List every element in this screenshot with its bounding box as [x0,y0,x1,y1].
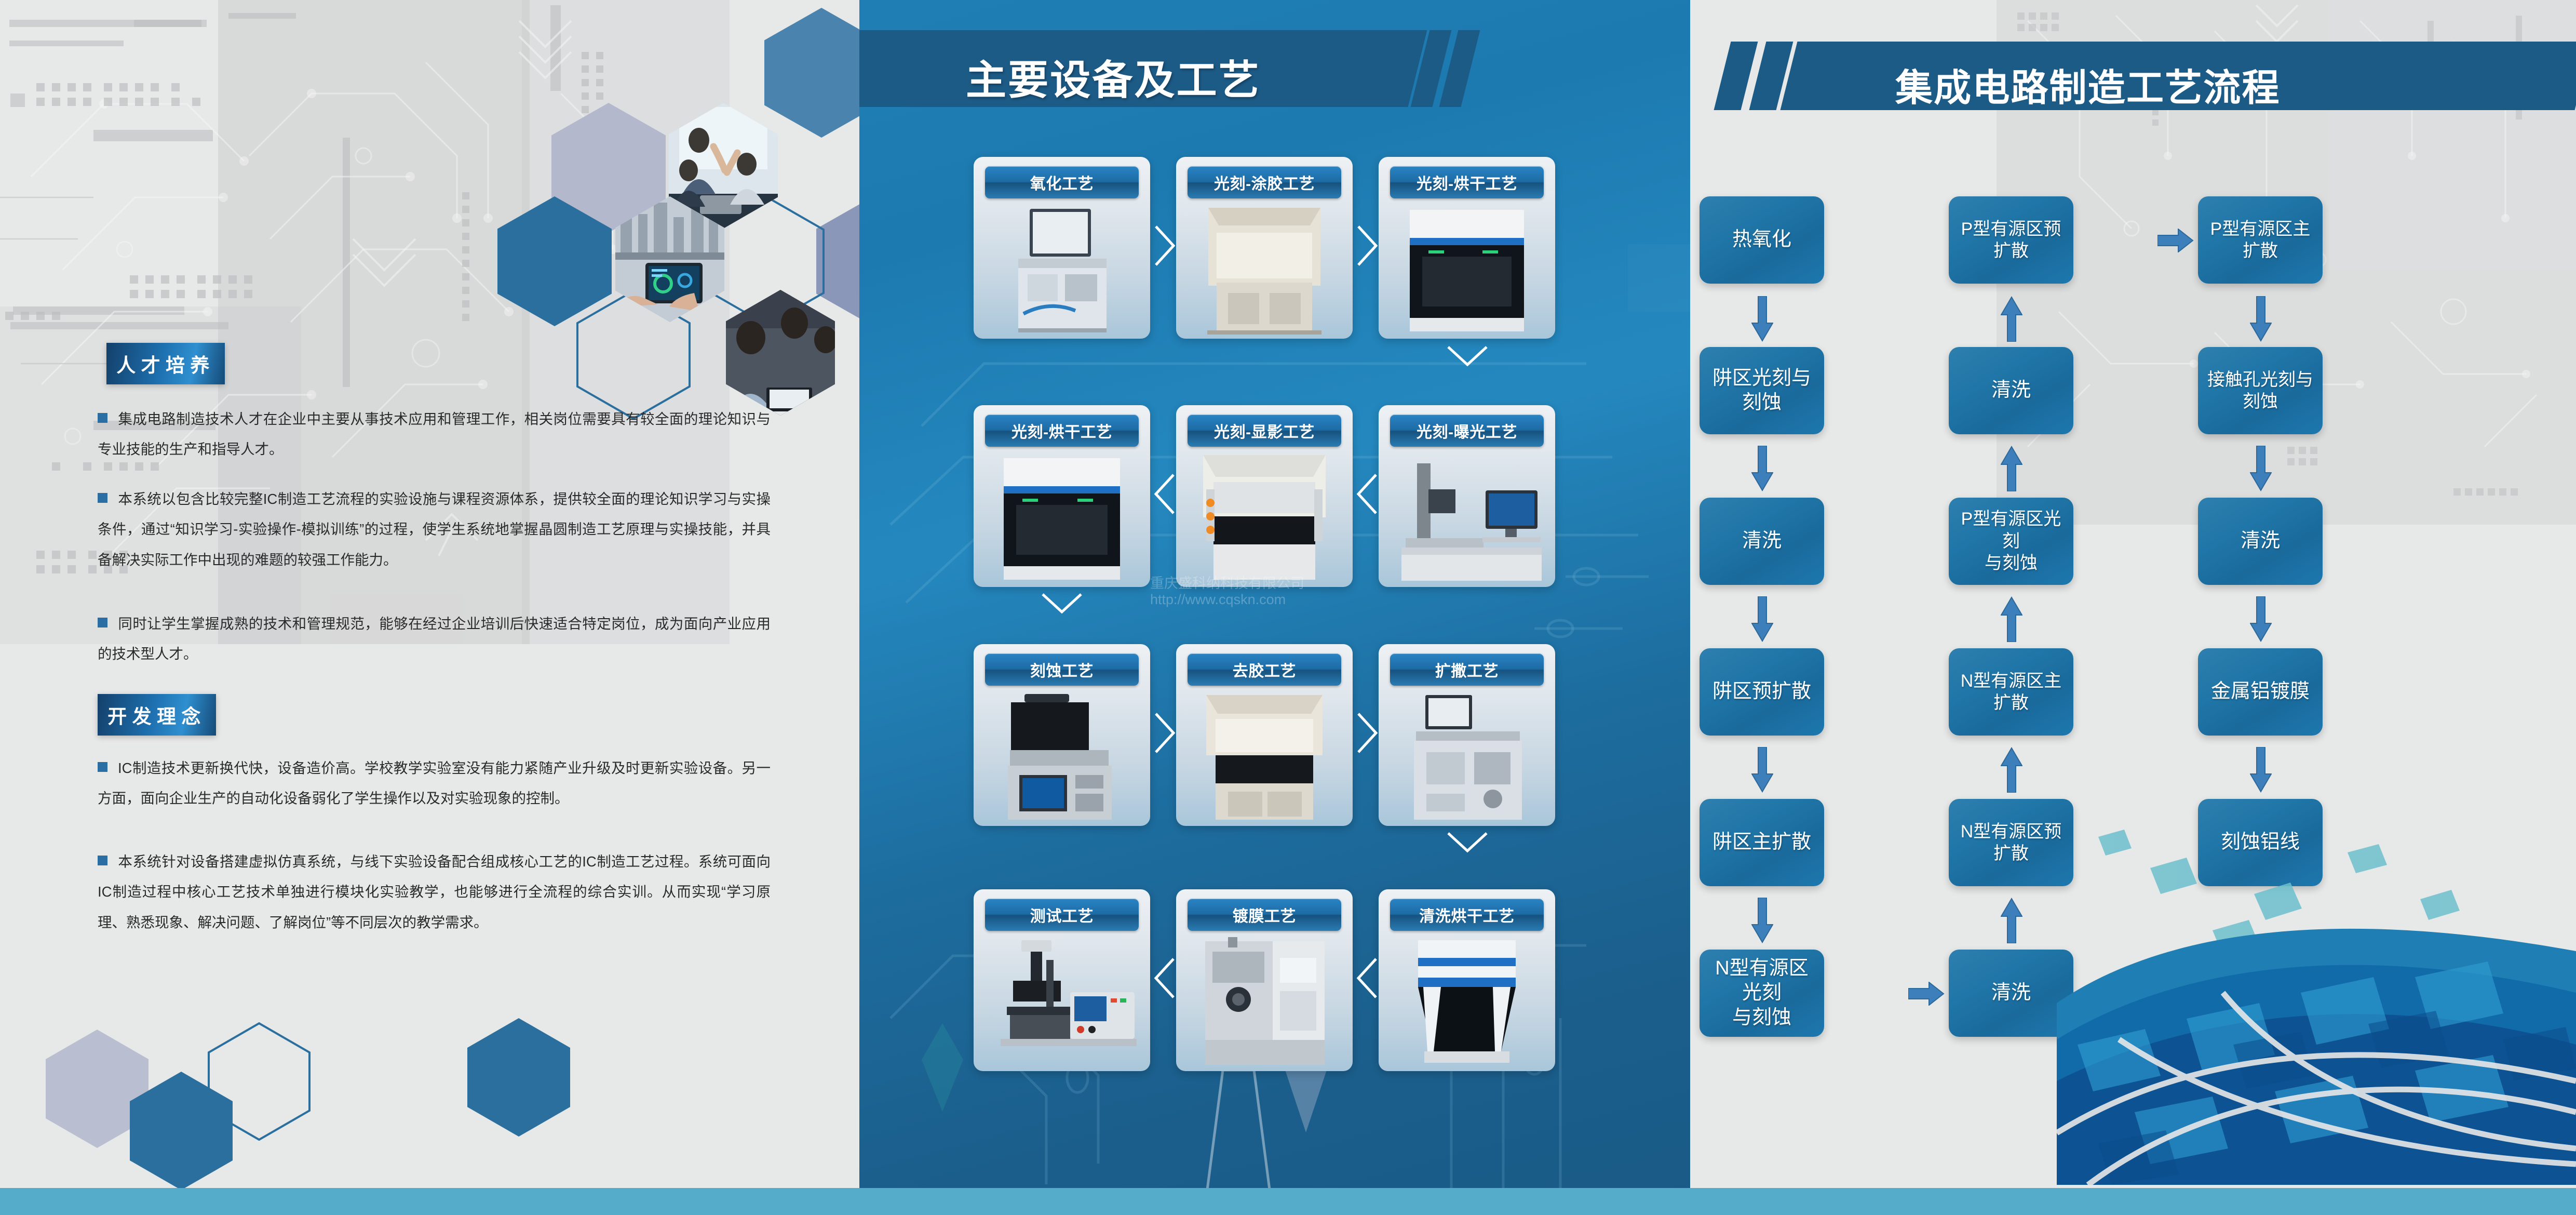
equipment-photo-bake-oven-2 [974,453,1150,587]
equipment-photo-developer-hood [1176,453,1353,587]
equipment-card[interactable]: 扩撒工艺 [1379,644,1555,826]
arrow-up-icon [2001,747,2022,793]
arrow-down-icon [2250,446,2272,491]
flow-box-label: 阱区光刻与刻蚀 [1706,366,1818,416]
arrow-down-icon [2250,747,2272,793]
paragraph-concept-2: 本系统针对设备搭建虚拟仿真系统，与线下实验设备配合组成核心工艺的IC制造工艺过程… [98,847,771,938]
arrow-down-icon [1751,596,1773,642]
hexagon-solid-darkblue-top [764,8,859,138]
flow-box-c2-r3[interactable]: P型有源区光刻 与刻蚀 [1949,498,2073,585]
equipment-card-label: 光刻-烘干工艺 [1390,166,1544,198]
paragraph-talent-3: 同时让学生掌握成熟的技术和管理规范，能够在经过企业培训后快速适合特定岗位，成为面… [98,609,771,670]
chevron-right-icon [1355,223,1379,268]
equipment-photo-clean-dry-hood [1379,937,1555,1071]
equipment-card-label: 光刻-涂胶工艺 [1188,166,1341,198]
equipment-card-label: 去胶工艺 [1188,653,1341,686]
flow-box-label: 接触孔光刻与刻蚀 [2204,369,2316,413]
arrow-up-icon [2001,898,2022,943]
flow-box-label: 金属铝镀膜 [2211,679,2310,704]
equipment-card-label: 测试工艺 [985,899,1139,931]
arrow-down-icon [1751,446,1773,491]
flow-box-label: N型有源区主扩散 [1955,670,2067,714]
right-panel: 集成电路制造工艺流程 热氧化 阱区光刻与刻蚀 清洗 阱区预扩散 阱区主扩散 N型… [1690,0,2576,1215]
equipment-card[interactable]: 刻蚀工艺 [974,644,1150,826]
paragraph-talent-2-text: 本系统以包含比较完整IC制造工艺流程的实验设施与课程资源体系，提供较全面的理论知… [98,491,771,568]
equipment-card[interactable]: 光刻-显影工艺 [1176,405,1353,587]
equipment-photo-bake-oven [1379,205,1555,339]
equipment-card[interactable]: 光刻-曝光工艺 [1379,405,1555,587]
flow-box-c3-r1[interactable]: P型有源区主扩散 [2198,196,2323,284]
chevron-left-icon [1153,472,1177,516]
arrow-down-icon [1751,296,1773,342]
flow-box-c3-r2[interactable]: 接触孔光刻与刻蚀 [2198,347,2323,434]
bullet-square-icon [98,413,107,423]
chevron-down-icon [1445,344,1490,368]
arrow-right-icon [2157,229,2194,252]
chevron-right-icon [1355,711,1379,755]
equipment-card[interactable]: 氧化工艺 [974,157,1150,339]
flow-box-label: 清洗 [1742,529,1782,554]
middle-panel-title: 主要设备及工艺 [966,48,1261,106]
flow-box-label: 清洗 [2241,529,2280,554]
flow-box-label: N型有源区光刻 与刻蚀 [1706,956,1818,1031]
right-panel-title: 集成电路制造工艺流程 [1895,57,2281,112]
chevron-down-icon [1445,830,1490,854]
flow-box-label: 清洗 [1991,378,2031,403]
equipment-card[interactable]: 测试工艺 [974,889,1150,1071]
equipment-photo-photoresist-coater [1176,205,1353,339]
flow-box-c2-r5[interactable]: N型有源区预扩散 [1949,799,2073,886]
section-tag-concept-label: 开发理念 [107,701,206,729]
flow-box-label: P型有源区预扩散 [1955,218,2067,262]
flow-box-label: P型有源区主扩散 [2204,218,2316,262]
equipment-card-label: 氧化工艺 [985,166,1139,198]
left-panel: 人才培养 集成电路制造技术人才在企业中主要从事技术应用和管理工作，相关岗位需要具… [0,0,859,1215]
equipment-photo-probe-station [974,937,1150,1071]
wave-decoration [2057,821,2576,1185]
arrow-up-icon [2001,446,2022,491]
equipment-card-label: 扩撒工艺 [1390,653,1544,686]
chevron-left-icon [1355,472,1379,516]
flow-box-label: 阱区预扩散 [1712,679,1811,704]
equipment-card-label: 镀膜工艺 [1188,899,1341,931]
flow-box-label: 热氧化 [1732,228,1791,252]
chevron-right-icon [1153,711,1177,755]
arrow-up-icon [2001,296,2022,342]
bullet-square-icon [98,618,107,627]
arrow-down-icon [2250,296,2272,342]
bullet-square-icon [98,856,107,865]
arrow-down-icon [1751,898,1773,943]
flow-box-c2-r1[interactable]: P型有源区预扩散 [1949,196,2073,284]
flow-box-c1-r2[interactable]: 阱区光刻与刻蚀 [1700,347,1824,434]
equipment-photo-etcher [974,692,1150,826]
equipment-photo-resist-stripper [1176,692,1353,826]
poster-root: 人才培养 集成电路制造技术人才在企业中主要从事技术应用和管理工作，相关岗位需要具… [0,0,2576,1215]
hexagon-outline-bottom [208,1022,311,1141]
section-tag-concept: 开发理念 [98,694,216,736]
paragraph-talent-2: 本系统以包含比较完整IC制造工艺流程的实验设施与课程资源体系，提供较全面的理论知… [98,484,771,575]
equipment-photo-mask-aligner [1379,453,1555,587]
equipment-card[interactable]: 光刻-烘干工艺 [974,405,1150,587]
bullet-square-icon [98,493,107,503]
flow-box-c2-r6[interactable]: 清洗 [1949,950,2073,1037]
equipment-card-label: 光刻-曝光工艺 [1390,415,1544,447]
flow-box-c1-r4[interactable]: 阱区预扩散 [1700,648,1824,736]
chevron-left-icon [1355,956,1379,1000]
flow-box-label: 阱区主扩散 [1712,830,1811,855]
flow-box-c1-r3[interactable]: 清洗 [1700,498,1824,585]
chevron-left-icon [1153,956,1177,1000]
flow-box-label: 清洗 [1991,981,2031,1006]
hexagon-solid-blue-bottom-right [467,1018,570,1137]
equipment-card[interactable]: 光刻-涂胶工艺 [1176,157,1353,339]
chevron-down-icon [1040,591,1084,615]
flow-box-c1-r1[interactable]: 热氧化 [1700,196,1824,284]
flow-box-label: P型有源区光刻 与刻蚀 [1955,508,2067,575]
arrow-down-icon [2250,596,2272,642]
equipment-card-label: 光刻-显影工艺 [1188,415,1341,447]
bullet-square-icon [98,762,107,772]
arrow-down-icon [1751,747,1773,793]
flow-box-c2-r4[interactable]: N型有源区主扩散 [1949,648,2073,736]
paragraph-concept-1: IC制造技术更新换代快，设备造价高。学校教学实验室没有能力紧随产业升级及时更新实… [98,753,771,814]
flow-box-c1-r5[interactable]: 阱区主扩散 [1700,799,1824,886]
paragraph-concept-2-text: 本系统针对设备搭建虚拟仿真系统，与线下实验设备配合组成核心工艺的IC制造工艺过程… [98,853,771,930]
paragraph-concept-1-text: IC制造技术更新换代快，设备造价高。学校教学实验室没有能力紧随产业升级及时更新实… [98,760,771,806]
arrow-right-icon [1908,982,1945,1006]
bottom-bar [0,1188,2576,1215]
flow-box-c3-r4[interactable]: 金属铝镀膜 [2198,648,2323,736]
flow-box-c1-r6[interactable]: N型有源区光刻 与刻蚀 [1700,950,1824,1037]
middle-panel: 主要设备及工艺 氧化工艺 光刻-涂胶工艺 [859,0,1690,1215]
section-tag-talent-label: 人才培养 [116,350,214,378]
paragraph-talent-1-text: 集成电路制造技术人才在企业中主要从事技术应用和管理工作，相关岗位需要具有较全面的… [98,411,771,457]
equipment-card[interactable]: 镀膜工艺 [1176,889,1353,1071]
section-tag-talent: 人才培养 [106,343,225,384]
equipment-photo-coating-system [1176,937,1353,1071]
equipment-card-label: 刻蚀工艺 [985,653,1139,686]
equipment-card[interactable]: 清洗烘干工艺 [1379,889,1555,1071]
equipment-card[interactable]: 去胶工艺 [1176,644,1353,826]
arrow-up-icon [2001,596,2022,642]
paragraph-talent-1: 集成电路制造技术人才在企业中主要从事技术应用和管理工作，相关岗位需要具有较全面的… [98,404,771,465]
equipment-photo-diffusion-station [1379,692,1555,826]
flow-box-c2-r2[interactable]: 清洗 [1949,347,2073,434]
equipment-card-label: 清洗烘干工艺 [1390,899,1544,931]
flow-box-c3-r3[interactable]: 清洗 [2198,498,2323,585]
equipment-card[interactable]: 光刻-烘干工艺 [1379,157,1555,339]
paragraph-talent-3-text: 同时让学生掌握成熟的技术和管理规范，能够在经过企业培训后快速适合特定岗位，成为面… [98,616,771,662]
flow-box-label: N型有源区预扩散 [1955,821,2067,865]
chevron-right-icon [1153,223,1177,268]
equipment-photo-oxidation-furnace [974,205,1150,339]
equipment-card-label: 光刻-烘干工艺 [985,415,1139,447]
